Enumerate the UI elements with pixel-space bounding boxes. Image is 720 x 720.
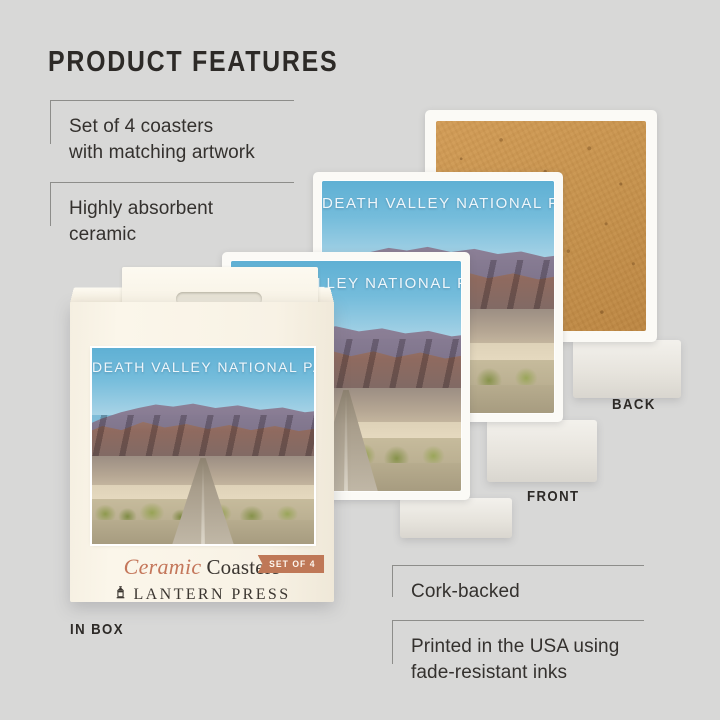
feature-text: Highly absorbent ceramic xyxy=(69,196,294,248)
lantern-icon xyxy=(114,585,127,605)
caption-back: BACK xyxy=(612,396,656,413)
box-artwork: DEATH VALLEY NATIONAL PARK xyxy=(92,348,314,544)
feature-item: Printed in the USA using fade-resistant … xyxy=(392,620,644,686)
artwork-ridge-texture xyxy=(92,415,314,462)
feature-text: Set of 4 coasters with matching artwork xyxy=(69,114,294,166)
caption-in-box: IN BOX xyxy=(70,621,124,638)
artwork-sky xyxy=(322,181,554,260)
box-brand-text: LANTERN PRESS xyxy=(134,586,291,604)
feature-text: Cork-backed xyxy=(411,579,644,605)
set-of-4-badge: SET OF 4 xyxy=(258,555,324,573)
feature-item: Highly absorbent ceramic xyxy=(50,182,294,248)
feature-item: Set of 4 coasters with matching artwork xyxy=(50,100,294,166)
box-label-script: Ceramic xyxy=(124,554,202,579)
retail-box: DEATH VALLEY NATIONAL PARK CeramicCoaste… xyxy=(70,302,334,602)
coaster-base-back xyxy=(573,340,681,398)
box-brand-line: LANTERN PRESS xyxy=(70,585,334,605)
coaster-base-front-2 xyxy=(400,498,512,538)
caption-front: FRONT xyxy=(527,488,580,505)
coaster-base-front xyxy=(487,420,597,482)
feature-text: Printed in the USA using fade-resistant … xyxy=(411,634,644,686)
artwork-title: DEATH VALLEY NATIONAL PARK xyxy=(322,195,554,212)
product-features-image: PRODUCT FEATURES Set of 4 coasters with … xyxy=(0,0,720,720)
page-title: PRODUCT FEATURES xyxy=(48,46,338,79)
feature-item: Cork-backed xyxy=(392,565,644,605)
artwork-title: DEATH VALLEY NATIONAL PARK xyxy=(92,359,314,375)
artwork-sky xyxy=(92,348,314,415)
